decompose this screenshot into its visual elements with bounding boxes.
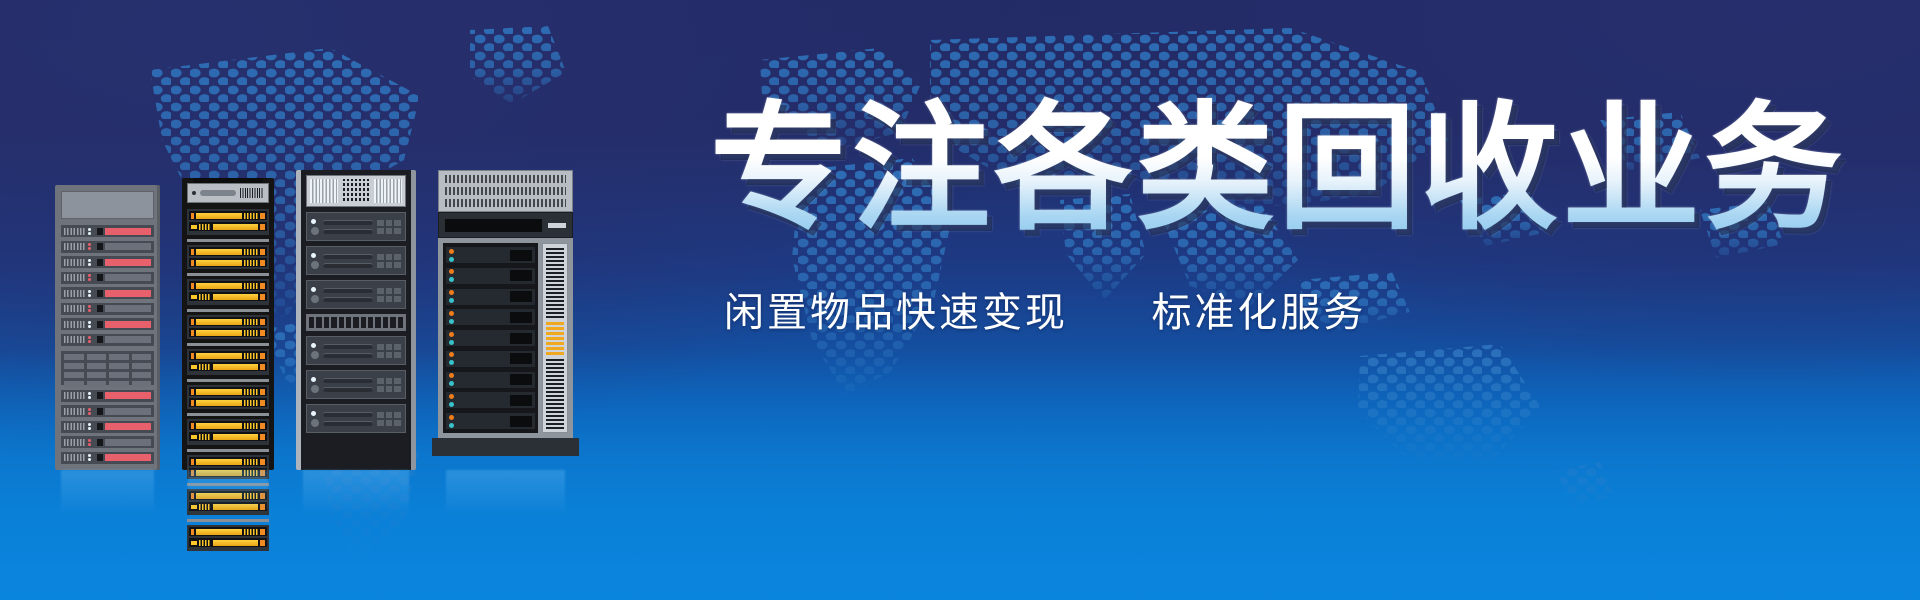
rack-1 [55, 185, 160, 470]
rack-3 [296, 170, 416, 470]
subtitle-part-1: 闲置物品快速变现 [724, 290, 1068, 336]
rack-3-header [306, 175, 406, 207]
hero-banner: 专注各类回收业务 闲置物品快速变现 标准化服务 [0, 0, 1920, 600]
rack-1-header [61, 191, 154, 219]
banner-subtitle: 闲置物品快速变现 标准化服务 [724, 280, 1890, 338]
rack-4 [438, 170, 573, 470]
rack-2-header [187, 183, 269, 203]
subtitle-part-2: 标准化服务 [1151, 290, 1366, 336]
rack-4-crown [438, 170, 573, 212]
rack-3-port-strip [306, 314, 406, 331]
banner-title: 专注各类回收业务 [710, 96, 1890, 242]
rack-4-base [432, 438, 579, 456]
server-racks-illustration [55, 170, 573, 470]
rack-2 [182, 178, 274, 470]
rack-1-patch-panel [61, 351, 154, 385]
rack-4-vent-column [542, 243, 568, 433]
headline-block: 专注各类回收业务 闲置物品快速变现 标准化服务 [710, 96, 1890, 338]
rack-4-drive-slot [438, 212, 573, 238]
